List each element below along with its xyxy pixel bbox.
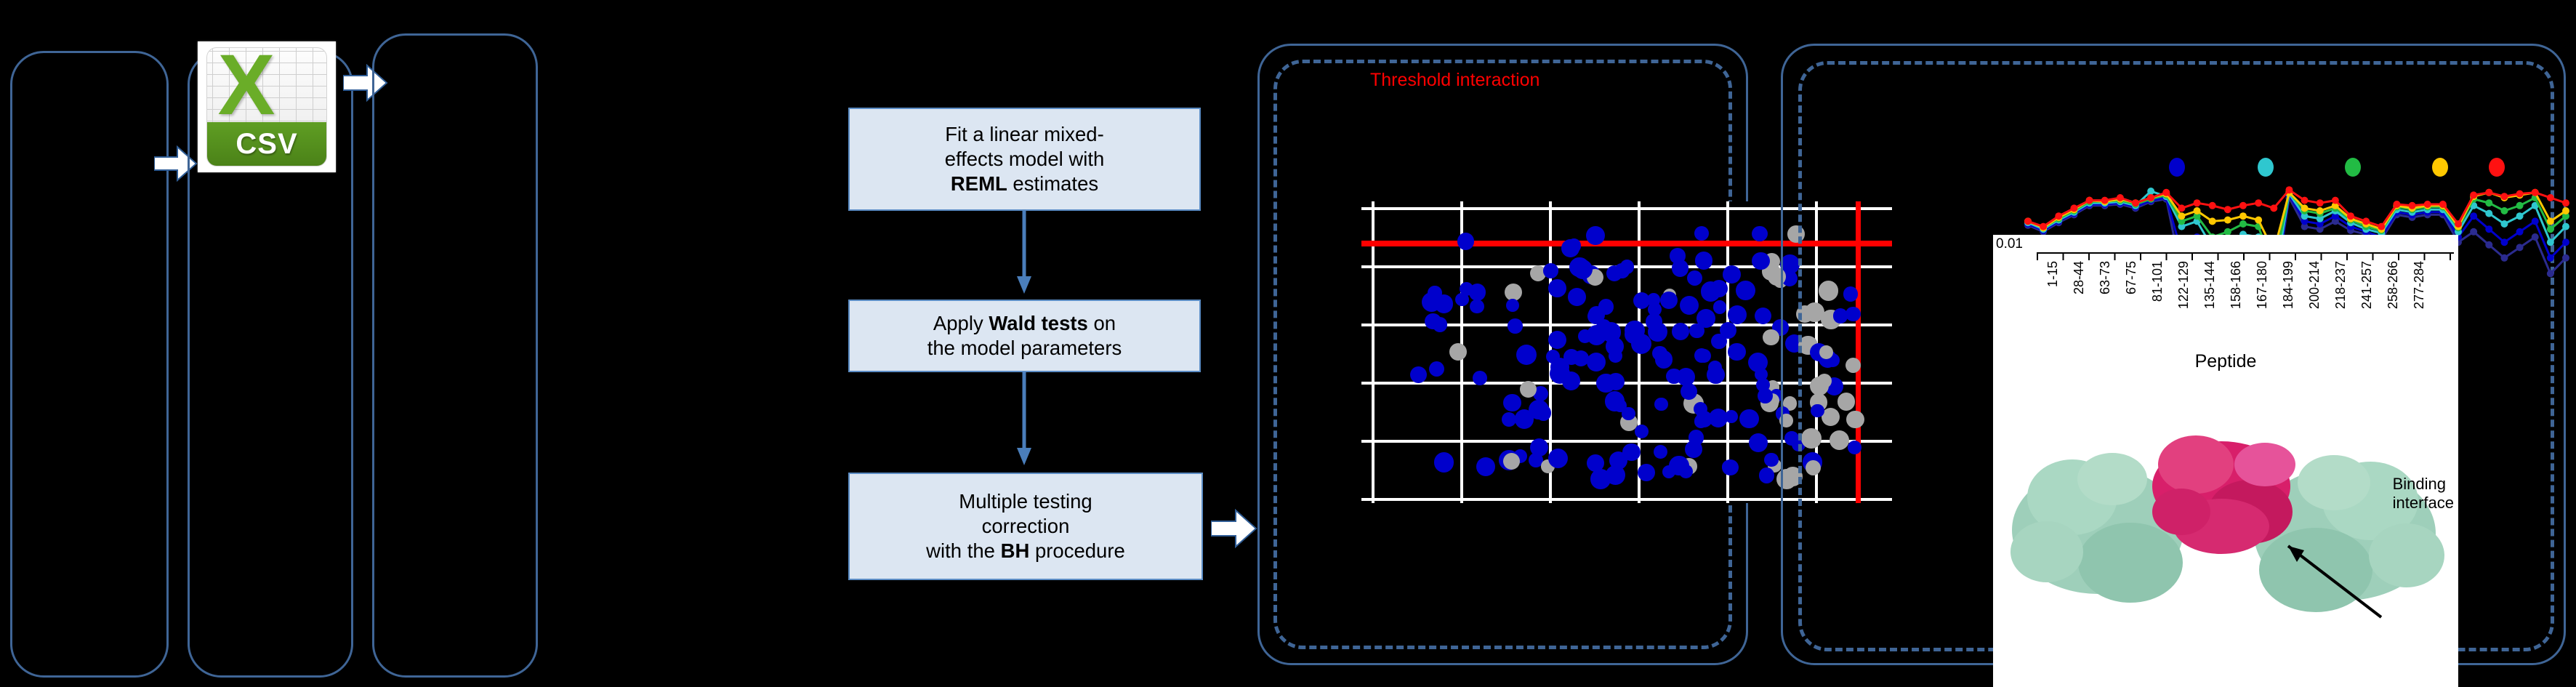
chart-series-marker (2500, 220, 2508, 228)
volcano-point-significant (1562, 371, 1580, 390)
volcano-point-significant (1567, 238, 1582, 253)
flow-arrow-3 (1211, 509, 1257, 548)
volcano-point-significant (1654, 398, 1668, 411)
chart-series-marker (2485, 241, 2492, 249)
volcano-point-significant (1590, 469, 1611, 489)
chart-series-marker (2393, 201, 2400, 208)
peptide-tick-label: 81-101 (2150, 261, 2165, 302)
volcano-point-significant (1694, 226, 1709, 241)
volcano-point-significant (1586, 226, 1605, 245)
volcano-point-significant (1587, 353, 1606, 371)
chart-series-marker (2101, 197, 2109, 204)
binding-interface-line-1: Binding (2393, 475, 2454, 494)
step-model-line-2: effects model with (945, 147, 1105, 172)
chart-series-marker (2516, 212, 2524, 220)
volcano-point-significant (1457, 233, 1475, 250)
volcano-point-significant (1672, 323, 1689, 340)
chart-series-marker (2547, 225, 2554, 233)
volcano-point-significant (1655, 350, 1673, 369)
peptide-tick-label: 218-237 (2333, 261, 2348, 309)
volcano-point-significant (1476, 457, 1495, 476)
chart-series-marker (2224, 217, 2231, 224)
legend-dot (2432, 158, 2448, 177)
step-correction-box[interactable]: Multiple testing correction with the BH … (848, 473, 1203, 580)
volcano-point-significant (1764, 453, 1779, 467)
volcano-point-significant (1728, 343, 1746, 361)
volcano-point-significant (1529, 400, 1548, 419)
chart-series-marker (2362, 217, 2370, 225)
results-inset: 0.01 1-1528-4463-7367-7581-101122-129135… (1993, 235, 2458, 687)
step-model-bold-term: REML (951, 172, 1007, 195)
step-model-line-3-rest: estimates (1007, 172, 1098, 195)
flow-arrow-down-2 (1016, 372, 1032, 467)
chart-series-marker (2147, 188, 2154, 195)
chart-series-marker (2147, 194, 2154, 201)
chart-series-marker (2470, 228, 2477, 236)
volcano-point-significant (1425, 313, 1441, 330)
volcano-point-significant (1707, 366, 1725, 384)
volcano-point-significant (1578, 329, 1592, 343)
x-axis-ticks (2037, 254, 2454, 260)
chart-series-marker (2485, 225, 2492, 233)
chart-series-marker (2317, 199, 2324, 206)
chart-series-marker (2270, 204, 2277, 212)
volcano-point-significant (1680, 296, 1699, 315)
volcano-point-significant (1677, 368, 1695, 386)
chart-series-marker (2301, 204, 2309, 212)
volcano-point-significant (1455, 293, 1468, 306)
binding-interface-label: Binding interface (2393, 475, 2454, 513)
chart-series-marker (2532, 217, 2539, 225)
peptide-tick-label: 167-180 (2255, 261, 2270, 309)
chart-series-marker (2178, 204, 2185, 212)
chart-series-marker (2470, 191, 2477, 198)
volcano-point-significant (1546, 350, 1560, 363)
peptide-tick-labels: 1-1528-4463-7367-7581-101122-129135-1441… (2037, 261, 2455, 348)
volcano-point-significant (1434, 452, 1454, 473)
peptide-tick-label: 63-73 (2098, 261, 2113, 294)
peptide-tick-label: 158-166 (2229, 261, 2244, 309)
volcano-point-significant (1752, 252, 1769, 270)
step-wald-line-1: Apply Wald tests on (933, 311, 1116, 336)
chart-series-marker (2055, 212, 2062, 220)
volcano-point-significant (1573, 260, 1593, 279)
chart-series-marker (2317, 207, 2324, 214)
protein-surface-svg (2003, 377, 2447, 668)
volcano-point-significant (1756, 378, 1770, 392)
chart-series-marker (2439, 201, 2447, 208)
legend-dot (2345, 158, 2361, 177)
volcano-point-significant (1695, 252, 1712, 269)
binding-interface-line-2: interface (2393, 494, 2454, 513)
chart-series-marker (2455, 220, 2462, 228)
volcano-point-significant (1635, 425, 1649, 438)
chart-series-marker (2485, 189, 2492, 196)
step-correction-line-1: Multiple testing (959, 489, 1092, 514)
chart-series-marker (2562, 223, 2569, 230)
chart-series-marker (2516, 244, 2524, 251)
peptide-tick-label: 135-144 (2202, 261, 2218, 309)
legend-dot (2489, 158, 2505, 177)
csv-file-icon[interactable]: X CSV (198, 41, 336, 172)
chart-series-marker (2547, 270, 2554, 277)
legend-dot (2258, 158, 2274, 177)
volcano-point-significant (1516, 345, 1537, 365)
chart-series-marker (2162, 189, 2170, 196)
chart-series-marker (2040, 223, 2047, 230)
chart-series-marker (2224, 206, 2231, 213)
step-correction-line-3: with the BH procedure (926, 539, 1125, 563)
chart-series-marker (2500, 207, 2508, 214)
chart-series-marker (2562, 207, 2569, 214)
volcano-point-significant (1548, 279, 1566, 297)
volcano-point-significant (1548, 449, 1568, 468)
volcano-point-significant (1752, 226, 1768, 242)
volcano-point-significant (1508, 318, 1523, 334)
step-wald-bold-term: Wald tests (989, 312, 1088, 334)
volcano-point-significant (1563, 349, 1579, 365)
chart-series-marker (2516, 190, 2524, 198)
peptide-tick-label: 184-199 (2281, 261, 2296, 309)
protein-surface-structure (2003, 377, 2447, 668)
chart-series-marker (2285, 186, 2293, 193)
volcano-point-significant (1614, 263, 1629, 278)
step-model-line-1: Fit a linear mixed- (945, 122, 1104, 147)
chart-series-marker (2562, 238, 2569, 246)
volcano-point-significant (1670, 248, 1685, 263)
volcano-point-significant (1759, 467, 1775, 483)
chart-series-marker (2500, 193, 2508, 200)
chart-series-marker (2485, 199, 2492, 206)
chart-series-marker (2347, 212, 2354, 220)
csv-icon-sheet: X CSV (206, 47, 327, 166)
volcano-point-significant (1749, 433, 1768, 452)
volcano-point-significant (1548, 331, 1566, 349)
volcano-point-significant (1543, 263, 1558, 278)
step-model-line-3: REML estimates (951, 172, 1098, 196)
chart-series-marker (2409, 202, 2416, 209)
peptide-tick-label: 1-15 (2045, 261, 2061, 287)
chart-series-marker (2239, 220, 2247, 228)
volcano-point-significant (1473, 371, 1487, 385)
step-model-box[interactable]: Fit a linear mixed- effects model with R… (848, 108, 1201, 211)
chart-series-marker (2516, 202, 2524, 209)
chart-series-marker (2516, 228, 2524, 236)
input-panel (10, 51, 169, 678)
chart-series-marker (2194, 199, 2201, 206)
volcano-point-nonsignificant (1520, 381, 1537, 398)
chart-series-marker (2500, 238, 2508, 246)
flow-arrow-down-1 (1016, 211, 1032, 295)
chart-series-marker (2255, 217, 2262, 224)
volcano-point-significant (1622, 407, 1635, 421)
step-correction-bold-term: BH (1001, 539, 1030, 562)
threshold-interaction-label: Threshold interaction (1370, 70, 1539, 91)
excel-x-icon: X (212, 49, 281, 125)
step-correction-line-2: correction (982, 514, 1070, 539)
chart-series-marker (2378, 223, 2385, 230)
peptide-tick-label: 258-266 (2386, 261, 2401, 309)
volcano-point-significant (1470, 300, 1484, 314)
volcano-point-significant (1625, 321, 1644, 340)
chart-series-marker (2547, 238, 2554, 246)
chart-series-marker (2470, 212, 2477, 220)
chart-series-marker (2547, 217, 2554, 225)
volcano-point-significant (1568, 288, 1586, 306)
volcano-point-significant (1503, 394, 1521, 411)
figure-canvas: X CSV Fit a linear mixed- effects model … (0, 0, 2576, 687)
volcano-point-significant (1713, 300, 1727, 314)
volcano-point-significant (1694, 348, 1709, 363)
volcano-point-significant (1723, 265, 1741, 284)
peptide-tick-label: 122-129 (2176, 261, 2191, 309)
peptide-tick-label: 28-44 (2072, 261, 2087, 294)
volcano-point-significant (1720, 322, 1736, 339)
volcano-point-nonsignificant (1763, 329, 1779, 346)
volcano-point-significant (1605, 391, 1625, 411)
peptide-tick-label: 241-257 (2359, 261, 2375, 309)
peptide-tick-label: 277-284 (2412, 261, 2427, 309)
chart-series-marker (2301, 197, 2309, 204)
volcano-point-significant (1689, 324, 1704, 339)
step-wald-line-2: the model parameters (927, 336, 1122, 361)
chart-series-marker (2194, 207, 2201, 214)
peptide-tick-label: 200-214 (2307, 261, 2322, 309)
chart-series-marker (2117, 194, 2124, 201)
y-axis-tick-label: 0.01 (1996, 236, 2023, 252)
volcano-point-significant (1506, 299, 1519, 312)
legend-dot (2169, 158, 2185, 177)
chart-series-marker (2132, 199, 2139, 206)
volcano-point-significant (1722, 459, 1739, 476)
csv-icon-band: CSV (207, 122, 326, 166)
chart-series-marker (2547, 194, 2554, 201)
volcano-point-significant (1607, 373, 1625, 390)
chart-series-marker (2209, 202, 2216, 209)
statistics-panel (372, 33, 538, 678)
chart-series-marker (2485, 210, 2492, 217)
chart-series-marker (2562, 199, 2569, 206)
chart-series-marker (2255, 199, 2262, 206)
chart-series-marker (2024, 217, 2032, 225)
volcano-point-significant (1587, 308, 1603, 324)
csv-icon-label: CSV (236, 128, 297, 161)
peptide-tick-label: 67-75 (2124, 261, 2139, 294)
chart-series-marker (2239, 202, 2247, 209)
chart-series-marker (2424, 201, 2431, 208)
step-wald-box[interactable]: Apply Wald tests on the model parameters (848, 300, 1201, 372)
chart-series-marker (2178, 212, 2185, 220)
chart-series-marker (2532, 189, 2539, 196)
chart-series-marker (2500, 254, 2508, 262)
volcano-point-significant (1739, 409, 1759, 429)
chart-series-marker (2332, 197, 2339, 204)
chart-series-marker (2532, 233, 2539, 241)
chart-series-marker (2562, 254, 2569, 262)
chart-series-marker (2086, 197, 2093, 204)
chart-series-marker (2209, 217, 2216, 225)
chart-series-marker (2547, 254, 2554, 262)
volcano-point-significant (1736, 281, 1755, 300)
chart-series-marker (2070, 204, 2077, 212)
volcano-point-significant (1469, 284, 1486, 300)
volcano-point-significant (1660, 292, 1678, 309)
volcano-point-significant (1648, 322, 1667, 342)
volcano-point-significant (1685, 441, 1702, 458)
x-axis-title: Peptide (1993, 351, 2458, 372)
chart-series-marker (2239, 212, 2247, 220)
